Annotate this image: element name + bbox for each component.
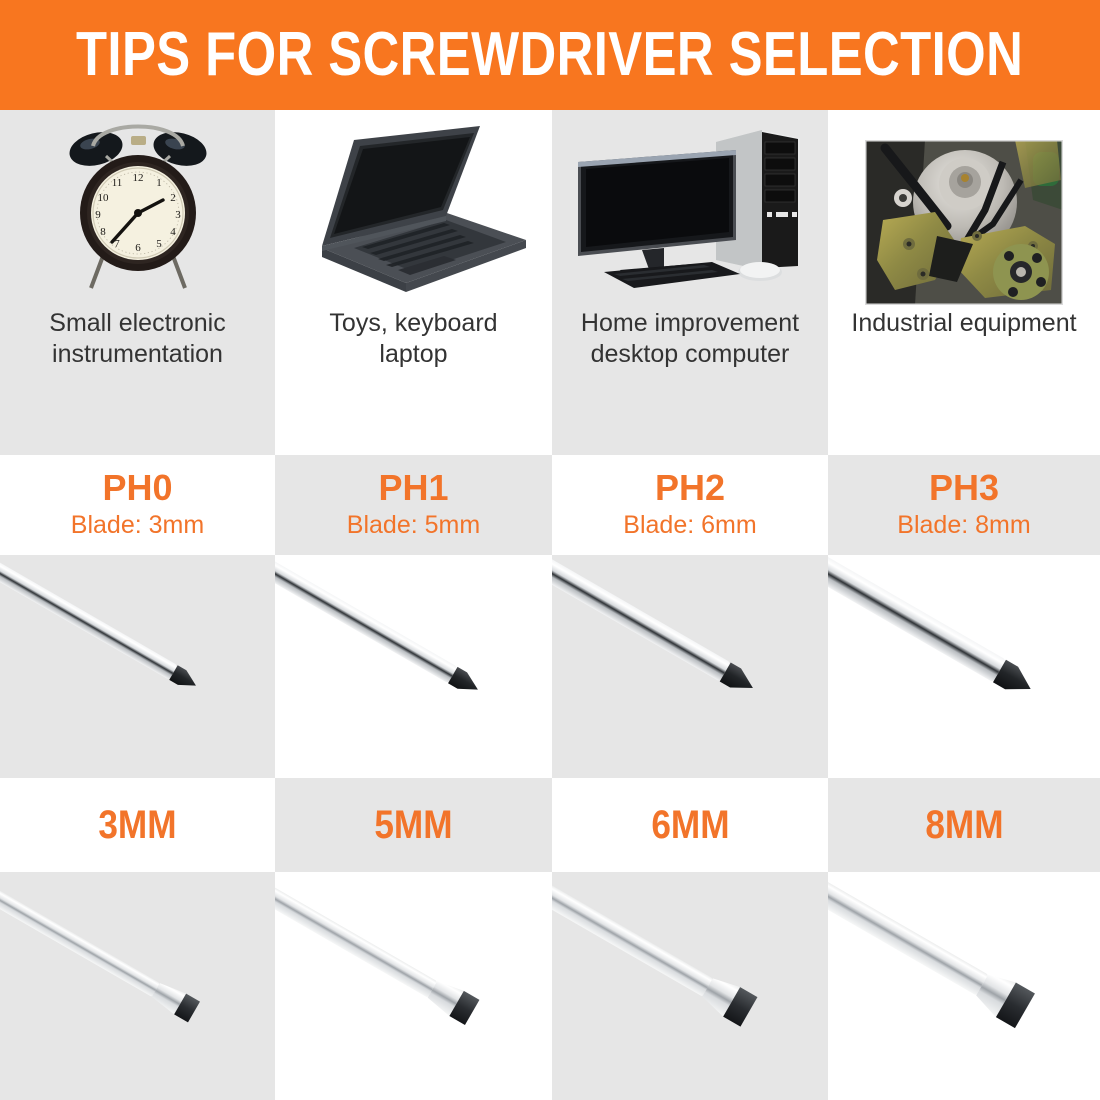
flathead-screwdriver-5mm-icon (275, 872, 552, 1100)
usage-label: Home improvement desktop computer (575, 308, 805, 371)
flathead-cell-6mm (552, 872, 828, 1100)
svg-text:1: 1 (156, 177, 162, 189)
ph-size-label: PH3 (929, 469, 999, 507)
phillips-cell-ph0 (0, 555, 275, 778)
ph-size-label: PH1 (378, 469, 448, 507)
svg-text:11: 11 (111, 177, 122, 189)
spec-cell-ph3: PH3 Blade: 8mm (828, 455, 1100, 555)
alarm-clock-icon: 12 1 2 3 4 5 6 7 8 9 10 11 (63, 116, 213, 292)
mm-cell-8mm: 8MM (828, 778, 1100, 872)
svg-text:12: 12 (132, 172, 143, 184)
infographic-page: TIPS FOR SCREWDRIVER SELECTION (0, 0, 1100, 1100)
blade-size-label: Blade: 3mm (71, 509, 204, 542)
industrial-equipment-photo (865, 140, 1063, 305)
header-banner: TIPS FOR SCREWDRIVER SELECTION (0, 0, 1100, 110)
usage-cell-home-improvement-desktop: Home improvement desktop computer (552, 110, 828, 455)
svg-text:9: 9 (95, 209, 101, 221)
spec-cell-ph1: PH1 Blade: 5mm (275, 455, 552, 555)
mm-size-label: 6MM (651, 805, 729, 845)
spec-cell-ph0: PH0 Blade: 3mm (0, 455, 275, 555)
mm-size-label: 3MM (98, 805, 176, 845)
mm-cell-5mm: 5MM (275, 778, 552, 872)
blade-size-label: Blade: 6mm (623, 509, 756, 542)
svg-text:2: 2 (170, 192, 176, 204)
flathead-screwdriver-6mm-icon (552, 872, 828, 1100)
blade-size-label: Blade: 5mm (347, 509, 480, 542)
phillips-cell-ph2 (552, 555, 828, 778)
svg-text:10: 10 (97, 192, 109, 204)
svg-text:6: 6 (135, 242, 141, 254)
mm-size-label: 5MM (374, 805, 452, 845)
content-grid: 12 1 2 3 4 5 6 7 8 9 10 11 (0, 110, 1100, 1100)
phillips-cell-ph1 (275, 555, 552, 778)
ph-size-label: PH2 (655, 469, 725, 507)
desktop-computer-art (552, 110, 828, 300)
phillips-screwdriver-ph3-icon (828, 555, 1100, 778)
usage-label: Industrial equipment (845, 308, 1082, 339)
flathead-screwdriver-3mm-icon (0, 872, 275, 1100)
usage-cell-industrial-equipment: Industrial equipment (828, 110, 1100, 455)
spec-cell-ph2: PH2 Blade: 6mm (552, 455, 828, 555)
phillips-screwdriver-ph1-icon (275, 555, 552, 778)
ph-size-label: PH0 (102, 469, 172, 507)
svg-text:8: 8 (100, 226, 106, 238)
flathead-cell-5mm (275, 872, 552, 1100)
usage-label: Toys, keyboard laptop (323, 308, 503, 371)
flathead-cell-3mm (0, 872, 275, 1100)
svg-text:5: 5 (156, 238, 162, 250)
phillips-cell-ph3 (828, 555, 1100, 778)
mm-cell-3mm: 3MM (0, 778, 275, 872)
laptop-art (275, 110, 552, 300)
desktop-computer-icon (564, 120, 816, 300)
blade-size-label: Blade: 8mm (897, 509, 1030, 542)
phillips-screwdriver-ph0-icon (0, 555, 275, 778)
svg-text:4: 4 (170, 226, 176, 238)
mm-cell-6mm: 6MM (552, 778, 828, 872)
flathead-cell-8mm (828, 872, 1100, 1100)
usage-label: Small electronic instrumentation (43, 308, 231, 371)
flathead-screwdriver-8mm-icon (828, 872, 1100, 1100)
usage-cell-toys-keyboard-laptop: Toys, keyboard laptop (275, 110, 552, 455)
mm-size-label: 8MM (925, 805, 1003, 845)
phillips-screwdriver-ph2-icon (552, 555, 828, 778)
laptop-icon (294, 120, 534, 300)
industrial-equipment-art (828, 110, 1100, 300)
usage-cell-small-electronics: 12 1 2 3 4 5 6 7 8 9 10 11 (0, 110, 275, 455)
svg-text:3: 3 (175, 209, 181, 221)
page-title: TIPS FOR SCREWDRIVER SELECTION (76, 24, 1023, 86)
alarm-clock-art: 12 1 2 3 4 5 6 7 8 9 10 11 (0, 110, 275, 300)
